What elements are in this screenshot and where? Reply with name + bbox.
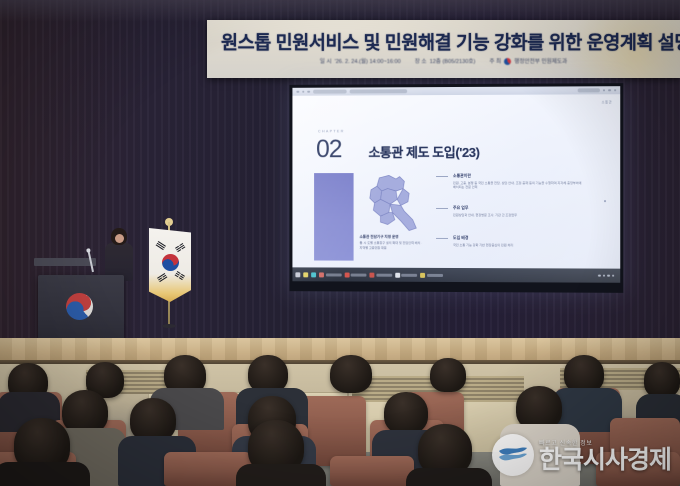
forward-icon[interactable] bbox=[302, 90, 304, 92]
slide-annotation-1: 소통관이란 민원, 고충, 분쟁 등 국민 소통을 전담, 상담·안내, 조정·… bbox=[453, 173, 582, 190]
attendee-head bbox=[330, 355, 372, 393]
map-caption-body: 各 시·도별 소통창구 설치 확대 및 전담인력 배치 · 지역별 고충민원 대… bbox=[360, 241, 424, 251]
slide-title: 소통관 제도 도입('23) bbox=[368, 142, 479, 161]
app-icon[interactable] bbox=[319, 272, 324, 277]
presentation-slide: 소통관 CHAPTER 02 소통관 제도 도입('23) bbox=[292, 94, 620, 268]
annotation-3-body: 국민 소통 기능 강화 기반 현장중심의 민원 처리 bbox=[453, 242, 582, 247]
flag-stand-base bbox=[162, 324, 176, 328]
app-label bbox=[376, 273, 392, 276]
annotation-1-heading: 소통관이란 bbox=[453, 173, 582, 179]
banner-title: 원스톱 민원서비스 및 민원해결 기능 강화를 위한 운영계획 설명회 bbox=[221, 29, 673, 55]
slide-annotation-3: 도입 배경 국민 소통 기능 강화 기반 현장중심의 민원 처리 bbox=[453, 235, 582, 248]
leader-line-icon bbox=[436, 237, 448, 238]
banner-date-value: '26. 2. 24.(월) 14:00~16:00 bbox=[335, 57, 401, 65]
banner-date: 일 시 '26. 2. 24.(월) 14:00~16:00 bbox=[320, 57, 401, 65]
tray-icon[interactable] bbox=[598, 274, 601, 277]
annotation-3-heading: 도입 배경 bbox=[453, 235, 582, 241]
taskview-icon[interactable] bbox=[311, 272, 316, 277]
toolbar-spacer bbox=[410, 90, 574, 91]
trigram-gam-icon bbox=[175, 243, 186, 253]
banner-subtitle: 일 시 '26. 2. 24.(월) 14:00~16:00 장 소 12층 (… bbox=[207, 57, 680, 65]
auditorium-seat bbox=[330, 456, 414, 486]
banner-date-label: 일 시 bbox=[320, 57, 332, 65]
slide-accent-block bbox=[314, 173, 353, 261]
regional-map-icon bbox=[361, 172, 421, 234]
app-label bbox=[427, 273, 443, 276]
attendee-shoulders bbox=[0, 462, 90, 486]
trigram-ri-icon bbox=[157, 273, 168, 283]
korean-government-taegeuk-emblem-icon bbox=[504, 58, 511, 65]
window-close-icon[interactable] bbox=[614, 89, 617, 92]
tab-strip[interactable] bbox=[313, 90, 347, 94]
annotation-2-body: 민원상담과 안내, 현장방문 조사, 기관 간 조정업무 bbox=[453, 212, 582, 217]
attendee-shoulders bbox=[406, 468, 492, 486]
app-icon[interactable] bbox=[395, 272, 400, 277]
trigram-geon-icon bbox=[155, 241, 166, 251]
slide-marker-dot bbox=[604, 200, 606, 202]
annotation-1-body: 민원, 고충, 분쟁 등 국민 소통을 전담, 상담·안내, 조정·중재 등의 … bbox=[453, 180, 582, 190]
search-icon[interactable] bbox=[303, 272, 308, 277]
windows-taskbar[interactable] bbox=[292, 267, 620, 282]
back-icon[interactable] bbox=[296, 91, 298, 93]
banner-place-value: 12층 (B05/2130호) bbox=[430, 57, 476, 65]
projection-screen: 소통관 CHAPTER 02 소통관 제도 도입('23) bbox=[289, 83, 623, 293]
ceiling-light-glow bbox=[0, 0, 680, 22]
start-icon[interactable] bbox=[295, 272, 300, 277]
event-banner: 원스톱 민원서비스 및 민원해결 기능 강화를 위한 운영계획 설명회 일 시 … bbox=[207, 20, 680, 78]
taskbar-app-2[interactable] bbox=[344, 272, 366, 277]
window-minimize-icon[interactable] bbox=[602, 89, 605, 92]
banner-host-label: 주 최 bbox=[489, 57, 501, 65]
banner-host: 주 최 행정안전부 민원제도과 bbox=[489, 57, 567, 65]
banner-host-value: 행정안전부 민원제도과 bbox=[514, 57, 567, 65]
annotation-2-heading: 주요 업무 bbox=[453, 205, 582, 211]
toolbar-actions[interactable] bbox=[577, 89, 599, 93]
leader-line-icon bbox=[436, 176, 448, 177]
system-tray[interactable] bbox=[598, 274, 617, 277]
taskbar-app-3[interactable] bbox=[369, 272, 391, 277]
auditorium-seat bbox=[596, 452, 680, 486]
banner-place-label: 장 소 bbox=[415, 57, 427, 65]
app-icon[interactable] bbox=[420, 272, 425, 277]
taskbar-app-5[interactable] bbox=[420, 272, 442, 277]
map-caption-title: 소통관 전담기구 지정 운영 bbox=[360, 235, 399, 240]
reload-icon[interactable] bbox=[307, 90, 309, 92]
app-label bbox=[351, 273, 367, 276]
window-maximize-icon[interactable] bbox=[608, 89, 611, 92]
clock-icon[interactable] bbox=[612, 274, 615, 277]
slide-annotation-2: 주요 업무 민원상담과 안내, 현장방문 조사, 기관 간 조정업무 bbox=[453, 205, 582, 218]
leader-line-icon bbox=[436, 207, 448, 208]
projected-desktop: 소통관 CHAPTER 02 소통관 제도 도입('23) bbox=[292, 86, 620, 283]
attendee-shoulders bbox=[236, 464, 326, 486]
south-korea-national-flag bbox=[146, 222, 194, 342]
address-bar[interactable] bbox=[349, 89, 407, 93]
slide-corner-tag: 소통관 bbox=[601, 99, 612, 104]
slide-chapter-number: 02 bbox=[316, 135, 341, 164]
taskbar-app-1[interactable] bbox=[319, 272, 341, 277]
app-icon[interactable] bbox=[344, 272, 349, 277]
network-icon[interactable] bbox=[602, 274, 605, 277]
volume-icon[interactable] bbox=[607, 274, 610, 277]
taegukgi-cloth bbox=[149, 228, 191, 302]
attendee-head bbox=[384, 392, 428, 434]
korean-government-taegeuk-emblem-icon bbox=[66, 293, 93, 320]
slide-chapter-label: CHAPTER bbox=[318, 129, 345, 133]
attendee-shoulders bbox=[500, 424, 580, 486]
attendee-head bbox=[430, 358, 466, 392]
taeguk-symbol-icon bbox=[162, 254, 179, 271]
app-label bbox=[325, 273, 341, 276]
regional-map bbox=[361, 172, 421, 234]
app-icon[interactable] bbox=[369, 272, 374, 277]
attendee-head bbox=[644, 362, 680, 398]
banner-place: 장 소 12층 (B05/2130호) bbox=[415, 57, 476, 65]
presenter-face bbox=[115, 234, 124, 243]
app-label bbox=[401, 273, 417, 276]
trigram-gon-icon bbox=[174, 271, 185, 281]
podium-top-surface bbox=[34, 258, 96, 266]
taskbar-app-4[interactable] bbox=[395, 272, 417, 277]
presenter-at-podium bbox=[104, 228, 134, 280]
auditorium-photo: 원스톱 민원서비스 및 민원해결 기능 강화를 위한 운영계획 설명회 일 시 … bbox=[0, 0, 680, 486]
